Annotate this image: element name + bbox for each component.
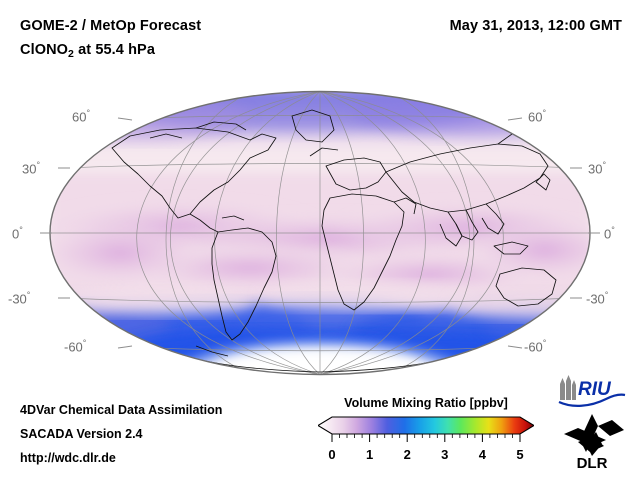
- dlr-logo: DLR: [562, 412, 628, 470]
- colorbar-tick-4: 4: [479, 447, 486, 462]
- colorbar-scale: [318, 416, 534, 450]
- colorbar-tick-0: 0: [328, 447, 335, 462]
- lat-label-right-30: 30°: [588, 160, 606, 176]
- riu-logo: RIU: [556, 374, 628, 408]
- dlr-wordmark: DLR: [577, 455, 608, 470]
- forecast-datetime: May 31, 2013, 12:00 GMT: [450, 18, 622, 34]
- pressure-level: at 55.4 hPa: [74, 42, 155, 58]
- colorbar-tick-2: 2: [404, 447, 411, 462]
- species-level-label: ClONO2 at 55.4 hPa: [20, 42, 155, 58]
- colorbar-title: Volume Mixing Ratio [ppbv]: [318, 396, 534, 410]
- colorbar-ticks: [332, 434, 520, 442]
- riu-wordmark: RIU: [578, 379, 612, 400]
- lat-label-left-0: 0°: [12, 225, 23, 241]
- colorbar-tick-1: 1: [366, 447, 373, 462]
- species-name: ClONO: [20, 42, 68, 58]
- footer-line-1: 4DVar Chemical Data Assimilation: [20, 403, 222, 417]
- lat-label-right-0: 0°: [604, 225, 615, 241]
- page-title: GOME-2 / MetOp Forecast: [20, 18, 201, 34]
- colorbar-tick-5: 5: [516, 447, 523, 462]
- footer-line-2: SACADA Version 2.4: [20, 427, 143, 441]
- lat-label-right-m60: -60°: [524, 338, 546, 354]
- lat-label-left-m60: -60°: [64, 338, 86, 354]
- colorbar: Volume Mixing Ratio [ppbv]: [318, 396, 534, 474]
- footer-line-3: http://wdc.dlr.de: [20, 451, 116, 465]
- dlr-pinwheel-icon: [564, 414, 624, 456]
- lat-label-right-m30: -30°: [586, 290, 608, 306]
- map-panel: 60° 30° 0° -30° -60° 60° 30° 0° -30° -60…: [0, 78, 640, 383]
- lat-label-left-30: 30°: [22, 160, 40, 176]
- colorbar-tick-3: 3: [441, 447, 448, 462]
- lat-label-right-60: 60°: [528, 108, 546, 124]
- lat-label-left-m30: -30°: [8, 290, 30, 306]
- lat-label-left-60: 60°: [72, 108, 90, 124]
- colorbar-gradient: [318, 417, 534, 434]
- species-subscript: 2: [68, 48, 74, 60]
- riu-towers-icon: [560, 375, 576, 400]
